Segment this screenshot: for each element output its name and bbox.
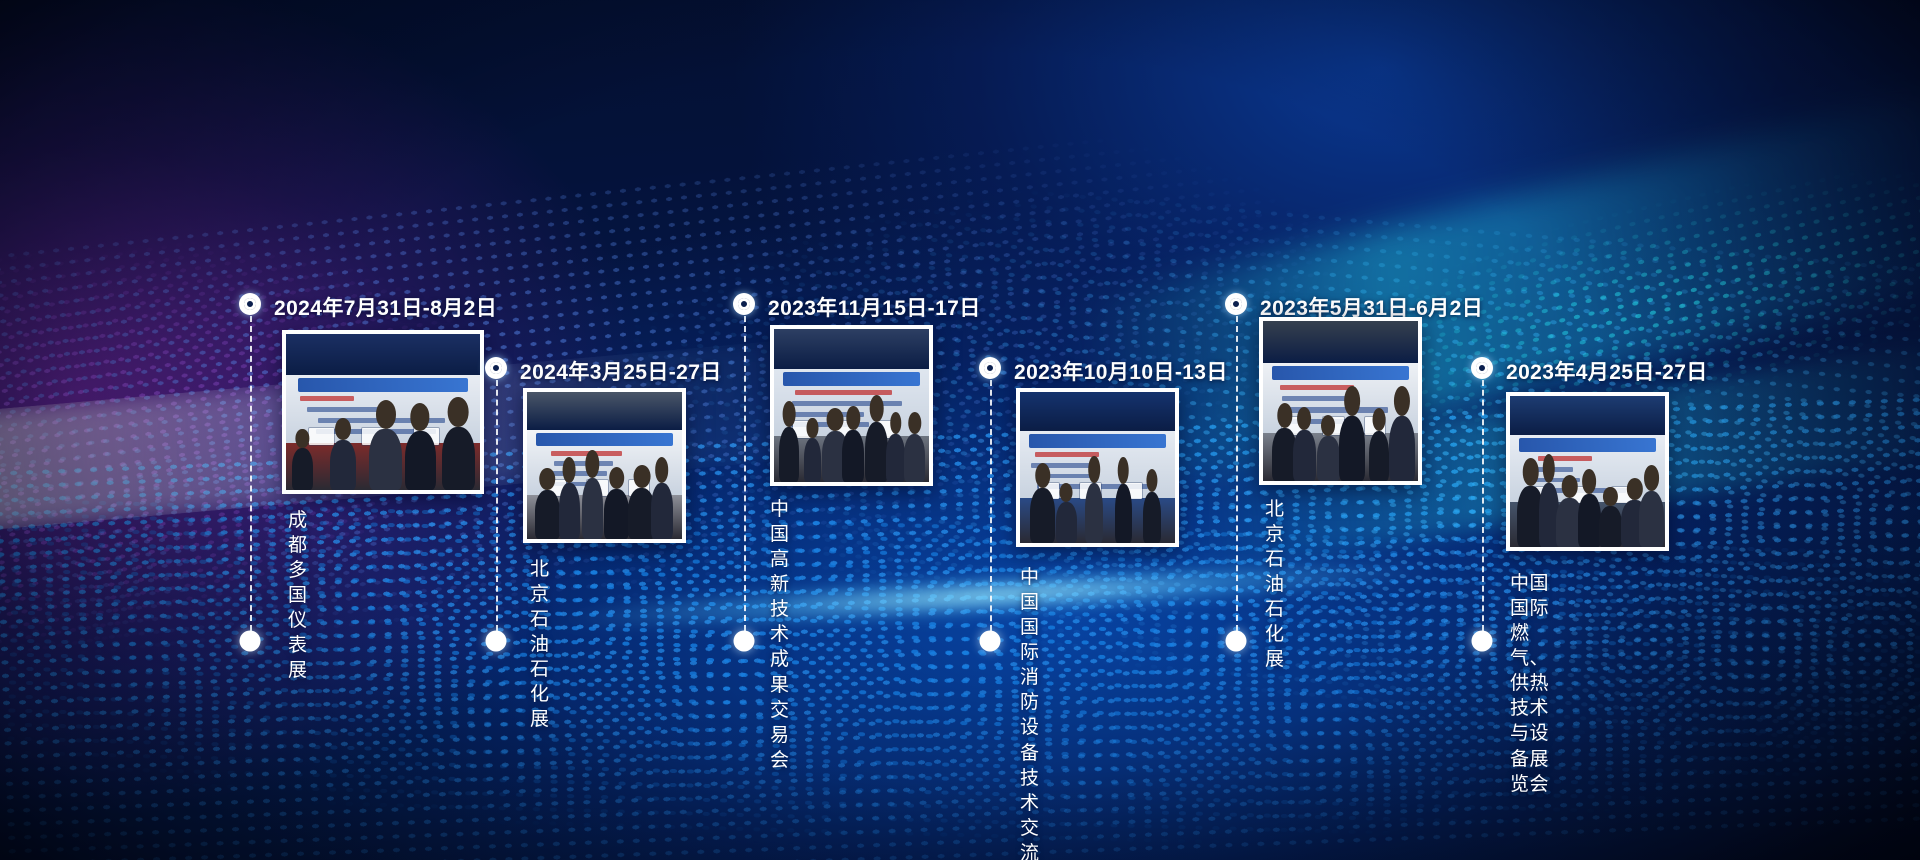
photo-crowd [1510, 478, 1665, 547]
timeline-marker-1[interactable] [239, 293, 261, 315]
photo-banner [1519, 438, 1655, 452]
photo-banner [783, 372, 919, 386]
event-date: 2023年4月25日-27日 [1506, 356, 1708, 386]
event-name: 中国高新技术 成果交易会 [770, 497, 790, 773]
timeline-connector [1482, 380, 1484, 631]
timeline-axis-dot-6[interactable] [1472, 631, 1493, 652]
photo-text-line [300, 396, 354, 401]
timeline-connector [496, 380, 498, 631]
photo-text-line [1035, 452, 1099, 457]
photo-crowd [1020, 474, 1175, 543]
timeline-connector [990, 380, 992, 631]
exhibition-photo [286, 334, 480, 490]
event-photo-card[interactable] [770, 325, 933, 486]
event-name: 北京石油石化展 [530, 557, 550, 733]
event-name: 北京石油石化展 [1265, 497, 1285, 673]
photo-ceiling [1020, 392, 1175, 431]
timeline-marker-6[interactable] [1471, 357, 1493, 379]
timeline-connector [744, 316, 746, 631]
event-photo-card[interactable] [282, 330, 484, 494]
photo-banner [536, 433, 672, 446]
photo-banner [1272, 366, 1408, 380]
event-name: 成都多国仪表展 [288, 508, 308, 684]
exhibition-photo [1020, 392, 1175, 543]
event-photo-card[interactable] [1016, 388, 1179, 547]
exhibition-photo [527, 392, 682, 539]
event-date: 2023年10月10日-13日 [1014, 356, 1228, 386]
photo-text-line [792, 401, 902, 406]
photo-banner [298, 378, 469, 392]
event-name: 中国国际消防设备 技术交流展览会 [1020, 565, 1040, 860]
photo-ceiling [1263, 321, 1418, 363]
exhibition-photo [1510, 396, 1665, 547]
exhibition-photo [774, 329, 929, 482]
event-photo-card[interactable] [1259, 317, 1422, 485]
photo-text-line [1280, 385, 1354, 390]
timeline-track: 2024年7月31日-8月2日成都多国仪表展2024年3月25日-27日北京石油… [0, 0, 1920, 860]
timeline-marker-5[interactable] [1225, 293, 1247, 315]
event-name: 中国国际燃气、供热 技术与设备展览会 [1510, 571, 1549, 797]
timeline-axis-dot-3[interactable] [734, 631, 755, 652]
event-date: 2023年11月15日-17日 [768, 292, 981, 322]
photo-ceiling [774, 329, 929, 369]
timeline-marker-4[interactable] [979, 357, 1001, 379]
photo-crowd [1263, 407, 1418, 481]
photo-ceiling [527, 392, 682, 430]
timeline-infographic: 2024年7月31日-8月2日成都多国仪表展2024年3月25日-27日北京石油… [0, 0, 1920, 860]
exhibition-photo [1263, 321, 1418, 481]
timeline-axis-dot-2[interactable] [486, 631, 507, 652]
timeline-axis-dot-4[interactable] [980, 631, 1001, 652]
photo-banner [1029, 434, 1165, 448]
timeline-axis-dot-1[interactable] [240, 631, 261, 652]
photo-crowd [286, 418, 480, 490]
event-date: 2024年7月31日-8月2日 [274, 292, 497, 322]
event-date: 2024年3月25日-27日 [520, 356, 722, 386]
photo-crowd [527, 471, 682, 539]
timeline-axis-dot-5[interactable] [1226, 631, 1247, 652]
timeline-connector [250, 316, 252, 631]
event-photo-card[interactable] [523, 388, 686, 543]
timeline-marker-2[interactable] [485, 357, 507, 379]
photo-ceiling [1510, 396, 1665, 435]
event-photo-card[interactable] [1506, 392, 1669, 551]
photo-ceiling [286, 334, 480, 375]
photo-crowd [774, 412, 929, 482]
timeline-connector [1236, 316, 1238, 631]
timeline-marker-3[interactable] [733, 293, 755, 315]
